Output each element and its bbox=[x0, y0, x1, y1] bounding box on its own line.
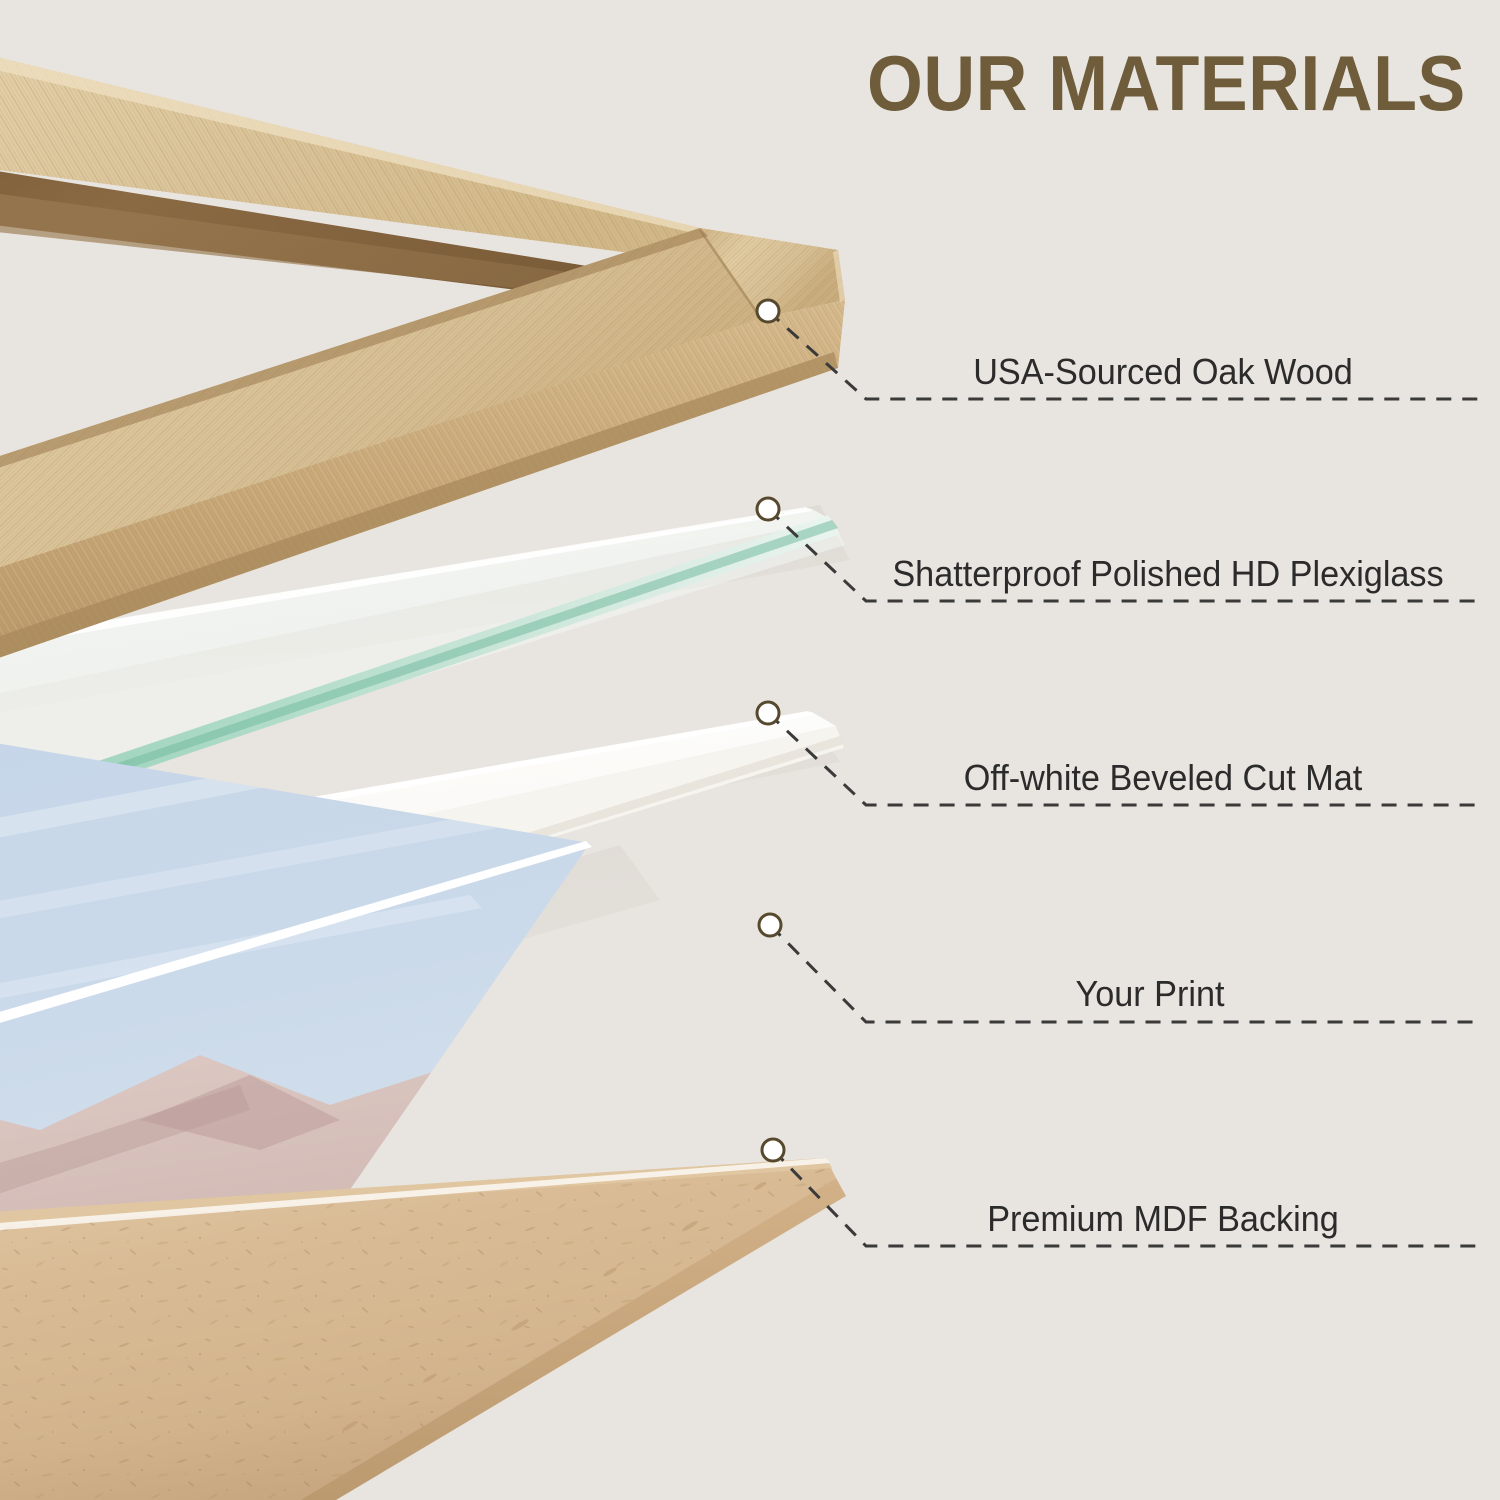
callout-label-plexiglass: Shatterproof Polished HD Plexiglass bbox=[892, 556, 1443, 592]
product-exploded-view bbox=[0, 0, 1500, 1500]
callout-label-print: Your Print bbox=[1076, 976, 1225, 1012]
callout-label-mdf-backing: Premium MDF Backing bbox=[987, 1201, 1339, 1237]
callout-label-oak-wood: USA-Sourced Oak Wood bbox=[973, 354, 1353, 390]
infographic-canvas: OUR MATERIALS USA-Sourced Oak WoodShatte… bbox=[0, 0, 1500, 1500]
page-title: OUR MATERIALS bbox=[867, 44, 1466, 122]
mdf-layer bbox=[0, 1158, 846, 1500]
callout-label-mat: Off-white Beveled Cut Mat bbox=[964, 760, 1363, 796]
